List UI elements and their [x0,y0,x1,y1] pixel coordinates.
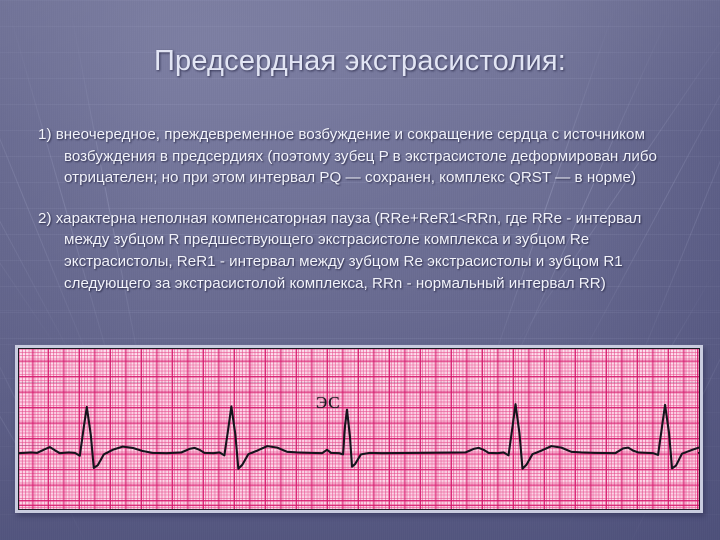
paragraph-1: 1) внеочередное, преждевременное возбужд… [38,124,686,189]
ecg-frame: ЭС [18,348,700,510]
ecg-image: ЭС [15,345,703,513]
slide-root: Предсердная экстрасистолия: 1) внеочеред… [0,0,720,540]
paragraph-2: 2) характерна неполная компенсаторная па… [38,208,686,294]
ecg-annotation-es: ЭС [316,393,341,413]
ecg-waveform [19,349,699,510]
body-text: 1) внеочередное, преждевременное возбужд… [38,124,686,294]
page-title: Предсердная экстрасистолия: [0,44,720,78]
